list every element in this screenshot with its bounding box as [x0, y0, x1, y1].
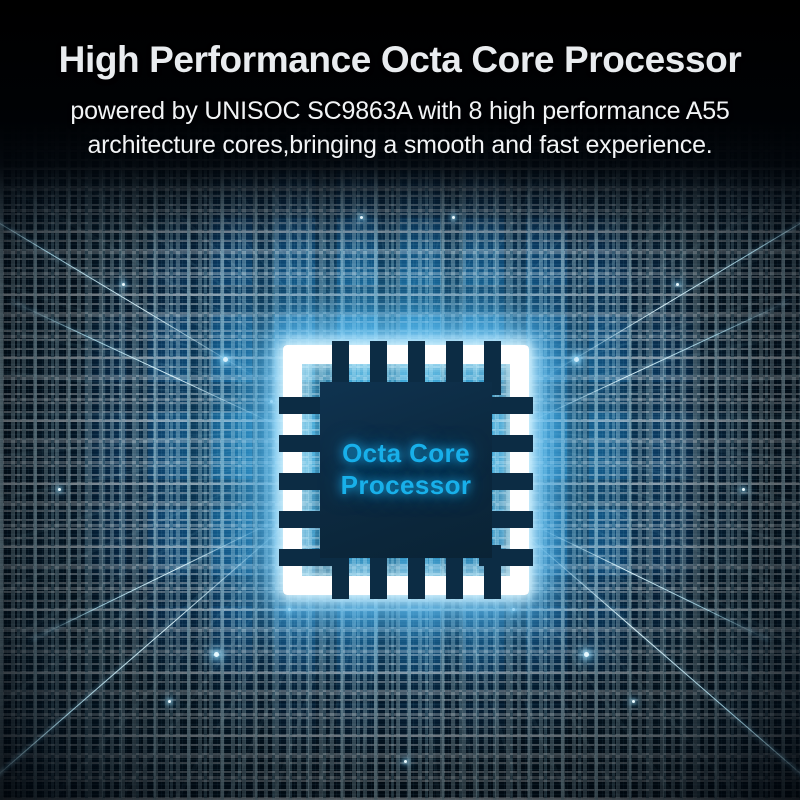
- light-ray-icon: [10, 300, 282, 428]
- chip-die-body: Octa Core Processor: [320, 382, 492, 558]
- light-node-icon: [288, 608, 291, 611]
- product-feature-banner: Octa Core Processor High Performance Oct…: [0, 0, 800, 800]
- light-ray-icon: [503, 515, 800, 791]
- light-node-icon: [512, 608, 515, 611]
- light-node-icon: [452, 216, 455, 219]
- light-node-icon: [584, 652, 589, 657]
- light-ray-icon: [0, 515, 297, 791]
- light-ray-icon: [0, 205, 253, 376]
- light-node-icon: [223, 357, 228, 362]
- light-ray-icon: [547, 205, 800, 376]
- chip-label-line-1: Octa Core: [342, 438, 470, 470]
- light-node-icon: [58, 488, 61, 491]
- light-ray-icon: [518, 300, 790, 428]
- light-node-icon: [742, 488, 745, 491]
- subtitle-line-1: powered by UNISOC SC9863A with 8 high pe…: [0, 95, 800, 128]
- processor-chip-icon: Octa Core Processor: [283, 345, 529, 595]
- subtitle-line-2: architecture cores,bringing a smooth and…: [0, 129, 800, 162]
- light-ray-icon: [30, 522, 273, 641]
- light-ray-icon: [527, 522, 770, 641]
- subtitle-block: powered by UNISOC SC9863A with 8 high pe…: [0, 95, 800, 162]
- light-node-icon: [574, 357, 579, 362]
- light-node-icon: [270, 400, 273, 403]
- page-title: High Performance Octa Core Processor: [0, 38, 800, 82]
- light-node-icon: [404, 760, 407, 763]
- banner-text-block: High Performance Octa Core Processor pow…: [0, 38, 800, 162]
- light-node-icon: [676, 283, 679, 286]
- light-node-icon: [122, 283, 125, 286]
- light-node-icon: [632, 700, 635, 703]
- chip-label-line-2: Processor: [341, 470, 472, 502]
- light-node-icon: [360, 216, 363, 219]
- light-node-icon: [168, 700, 171, 703]
- light-node-icon: [214, 652, 219, 657]
